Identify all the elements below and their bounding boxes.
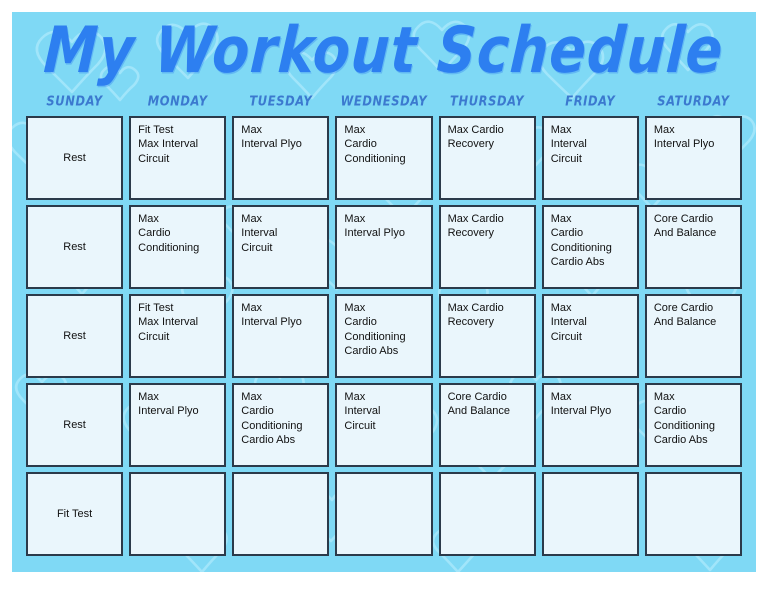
- workout-text: Fit Test Max Interval Circuit: [138, 123, 218, 166]
- workout-text: Max Cardio Recovery: [448, 123, 528, 152]
- workout-text: Max Cardio Recovery: [448, 301, 528, 330]
- day-header-friday: FRIDAY: [542, 89, 639, 114]
- calendar-cell[interactable]: Max Interval Plyo: [645, 116, 742, 200]
- calendar-cell[interactable]: Max Cardio Conditioning Cardio Abs: [335, 294, 432, 378]
- calendar-cell[interactable]: Core Cardio And Balance: [645, 294, 742, 378]
- workout-text: Max Interval Circuit: [551, 123, 631, 166]
- calendar-cell[interactable]: Max Interval Plyo: [129, 383, 226, 467]
- page-title: My Workout Schedule: [42, 19, 725, 83]
- day-header-wednesday: WEDNESDAY: [335, 89, 432, 114]
- workout-text: Rest: [63, 151, 86, 165]
- workout-text: Fit Test Max Interval Circuit: [138, 301, 218, 344]
- workout-text: Core Cardio And Balance: [448, 390, 528, 419]
- calendar-cell[interactable]: Max Cardio Conditioning Cardio Abs: [645, 383, 742, 467]
- workout-text: Max Cardio Recovery: [448, 212, 528, 241]
- workout-text: Max Interval Plyo: [551, 390, 631, 419]
- title-area: My Workout Schedule: [20, 12, 748, 90]
- calendar-cell[interactable]: Max Cardio Conditioning: [335, 116, 432, 200]
- calendar-cell[interactable]: Max Interval Plyo: [335, 205, 432, 289]
- day-header-thursday: THURSDAY: [439, 89, 536, 114]
- workout-text: Max Interval Circuit: [344, 390, 424, 433]
- calendar-cell[interactable]: Rest: [26, 205, 123, 289]
- workout-text: Core Cardio And Balance: [654, 212, 734, 241]
- calendar-cell[interactable]: Fit Test Max Interval Circuit: [129, 294, 226, 378]
- calendar-cell[interactable]: Max Cardio Conditioning: [129, 205, 226, 289]
- calendar-cell[interactable]: Max Interval Plyo: [542, 383, 639, 467]
- calendar-cell[interactable]: Max Interval Plyo: [232, 294, 329, 378]
- calendar-cell[interactable]: [129, 472, 226, 556]
- workout-text: Max Cardio Conditioning Cardio Abs: [551, 212, 631, 269]
- schedule-sheet: My Workout Schedule SUNDAYMONDAYTUESDAYW…: [12, 12, 756, 572]
- calendar-cell[interactable]: [335, 472, 432, 556]
- workout-text: Max Cardio Conditioning Cardio Abs: [654, 390, 734, 447]
- sheet-content: My Workout Schedule SUNDAYMONDAYTUESDAYW…: [12, 12, 756, 572]
- calendar-cell[interactable]: [439, 472, 536, 556]
- workout-text: Rest: [63, 418, 86, 432]
- workout-text: Max Interval Plyo: [654, 123, 734, 152]
- workout-text: Max Cardio Conditioning: [344, 123, 424, 166]
- calendar-cell[interactable]: Rest: [26, 116, 123, 200]
- workout-text: Max Interval Circuit: [551, 301, 631, 344]
- calendar-cell[interactable]: Max Cardio Recovery: [439, 116, 536, 200]
- workout-text: Max Interval Plyo: [344, 212, 424, 241]
- calendar-cell[interactable]: Core Cardio And Balance: [645, 205, 742, 289]
- day-header-tuesday: TUESDAY: [232, 89, 329, 114]
- calendar-grid: RestFit Test Max Interval CircuitMax Int…: [20, 112, 748, 564]
- day-header-saturday: SATURDAY: [645, 89, 742, 114]
- day-header-row: SUNDAYMONDAYTUESDAYWEDNESDAYTHURSDAYFRID…: [20, 90, 748, 112]
- calendar-cell[interactable]: Rest: [26, 383, 123, 467]
- workout-text: Core Cardio And Balance: [654, 301, 734, 330]
- workout-text: Fit Test: [57, 507, 92, 521]
- calendar-cell[interactable]: Core Cardio And Balance: [439, 383, 536, 467]
- workout-text: Max Interval Plyo: [241, 301, 321, 330]
- workout-text: Max Cardio Conditioning Cardio Abs: [241, 390, 321, 447]
- calendar-cell[interactable]: Max Interval Circuit: [542, 116, 639, 200]
- calendar-cell[interactable]: Max Cardio Recovery: [439, 205, 536, 289]
- calendar-cell[interactable]: [645, 472, 742, 556]
- workout-text: Rest: [63, 329, 86, 343]
- workout-text: Max Interval Circuit: [241, 212, 321, 255]
- workout-text: Max Cardio Conditioning: [138, 212, 218, 255]
- calendar-cell[interactable]: Max Interval Circuit: [232, 205, 329, 289]
- workout-text: Max Interval Plyo: [241, 123, 321, 152]
- calendar-cell[interactable]: Rest: [26, 294, 123, 378]
- workout-text: Rest: [63, 240, 86, 254]
- calendar-cell[interactable]: [232, 472, 329, 556]
- calendar-cell[interactable]: Max Interval Circuit: [335, 383, 432, 467]
- calendar-cell[interactable]: Max Cardio Conditioning Cardio Abs: [542, 205, 639, 289]
- calendar-cell[interactable]: Max Cardio Recovery: [439, 294, 536, 378]
- calendar-cell[interactable]: Fit Test Max Interval Circuit: [129, 116, 226, 200]
- calendar-cell[interactable]: Max Cardio Conditioning Cardio Abs: [232, 383, 329, 467]
- calendar-cell[interactable]: Max Interval Plyo: [232, 116, 329, 200]
- page-root: My Workout Schedule SUNDAYMONDAYTUESDAYW…: [0, 0, 768, 593]
- workout-text: Max Cardio Conditioning Cardio Abs: [344, 301, 424, 358]
- workout-text: Max Interval Plyo: [138, 390, 218, 419]
- calendar-cell[interactable]: [542, 472, 639, 556]
- calendar-cell[interactable]: Fit Test: [26, 472, 123, 556]
- day-header-sunday: SUNDAY: [26, 89, 123, 114]
- calendar-cell[interactable]: Max Interval Circuit: [542, 294, 639, 378]
- day-header-monday: MONDAY: [129, 89, 226, 114]
